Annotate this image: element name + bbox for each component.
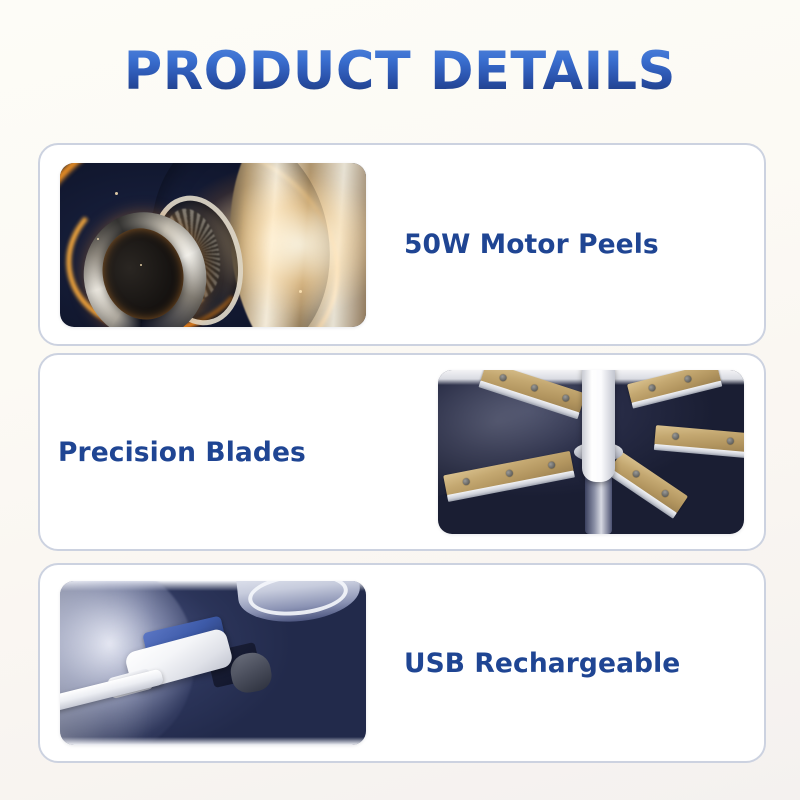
motor-photo	[60, 163, 366, 327]
feature-card-usb[interactable]: USB Rechargeable	[38, 563, 766, 763]
lens-flare	[244, 172, 366, 316]
spark-particle	[97, 238, 99, 240]
blade	[610, 451, 688, 513]
usb-photo	[60, 581, 366, 745]
blades-photo	[438, 370, 744, 534]
page-title: PRODUCT DETAILS	[124, 44, 676, 100]
feature-card-blades[interactable]: Precision Blades	[38, 353, 766, 551]
feature-label-usb: USB Rechargeable	[404, 648, 680, 679]
feature-card-motor[interactable]: 50W Motor Peels	[38, 143, 766, 346]
spark-particle	[140, 264, 142, 266]
feature-label-blades: Precision Blades	[58, 437, 306, 468]
feature-label-cell: 50W Motor Peels	[386, 229, 764, 260]
blade	[655, 425, 744, 453]
blade-edge	[654, 444, 744, 458]
feature-label-motor: 50W Motor Peels	[404, 229, 659, 260]
feature-label-cell: Precision Blades	[40, 437, 418, 468]
device-bottom-edge	[60, 737, 366, 745]
center-shaft	[582, 370, 616, 482]
page-title-container: PRODUCT DETAILS	[0, 44, 800, 100]
product-details-infographic: PRODUCT DETAILS 50W Motor Peels	[0, 0, 800, 800]
blade-edge	[631, 381, 721, 409]
feature-label-cell: USB Rechargeable	[386, 648, 764, 679]
